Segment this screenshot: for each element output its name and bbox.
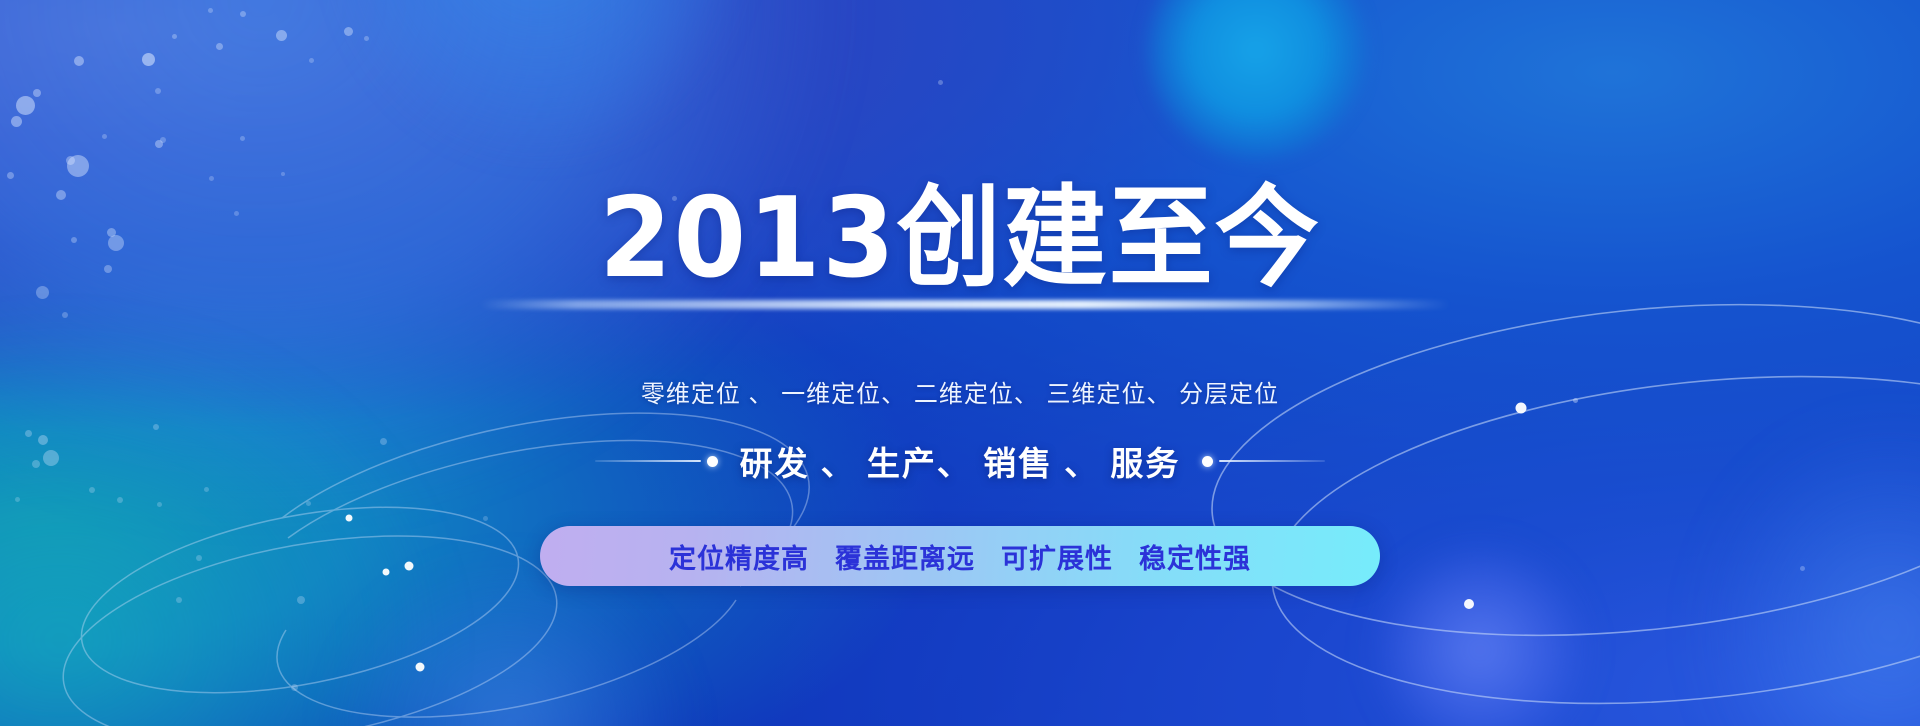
hero-banner: 2013创建至今 零维定位 、 一维定位、 二维定位、 三维定位、 分层定位 研… (0, 0, 1920, 726)
feature-item: 稳定性强 (1139, 544, 1251, 574)
bullet-dot-icon (1202, 456, 1213, 467)
subtitle-text: 零维定位 、 一维定位、 二维定位、 三维定位、 分层定位 (0, 374, 1920, 409)
feature-pill: 定位精度高覆盖距离远可扩展性稳定性强 (540, 526, 1380, 586)
feature-list: 定位精度高覆盖距离远可扩展性稳定性强 (656, 537, 1264, 576)
feature-item: 可扩展性 (1001, 544, 1113, 574)
headline-container: 2013创建至今 (0, 186, 1920, 290)
horizontal-rule-icon (1219, 460, 1325, 462)
banner-content: 2013创建至今 零维定位 、 一维定位、 二维定位、 三维定位、 分层定位 研… (0, 0, 1920, 726)
business-scope-row: 研发 、 生产、 销售 、 服务 (0, 437, 1920, 485)
headline-underline-streak (480, 300, 1450, 309)
page-title: 2013创建至今 (599, 183, 1320, 293)
feature-item: 定位精度高 (669, 544, 809, 574)
feature-item: 覆盖距离远 (835, 544, 975, 574)
right-decoration (1202, 456, 1325, 467)
bullet-dot-icon (707, 456, 718, 467)
business-scope-text: 研发 、 生产、 销售 、 服务 (740, 437, 1181, 485)
left-decoration (595, 456, 718, 467)
horizontal-rule-icon (595, 460, 701, 462)
